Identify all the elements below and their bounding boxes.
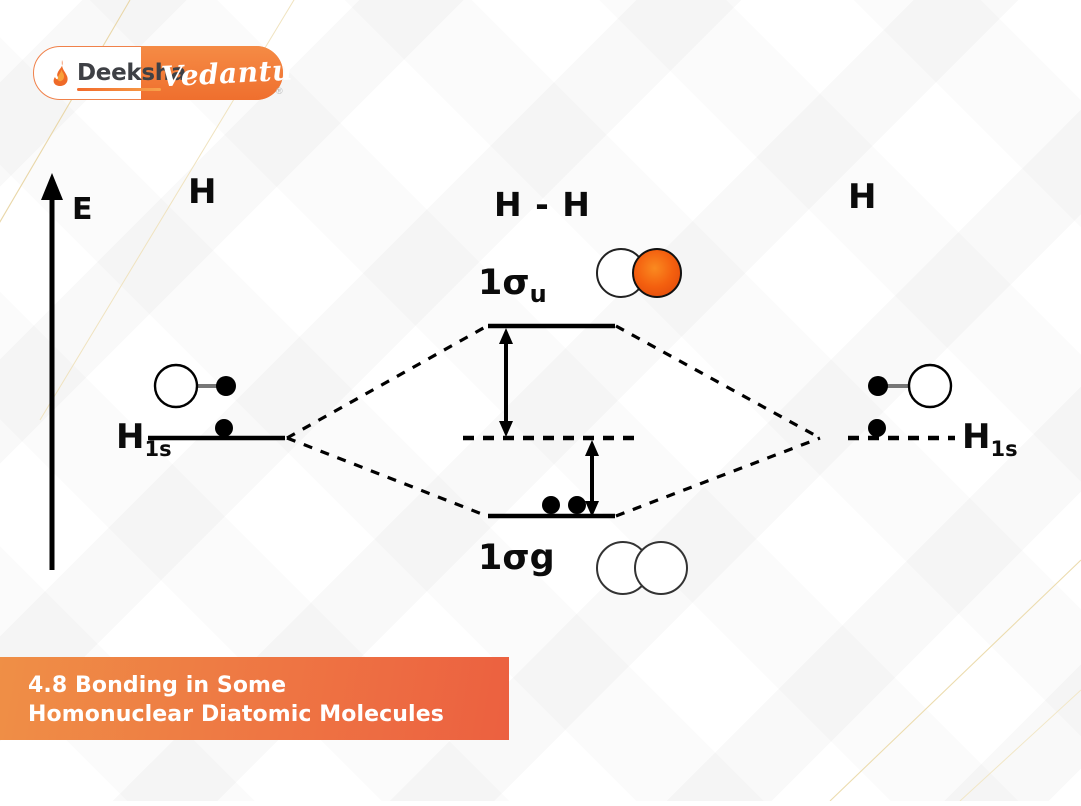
level-label-sigma-u-text: 1σ [478,263,530,303]
electron-dot [568,496,586,514]
atom-symbol-left [155,365,236,407]
level-label-sigma-g: 1σg [478,538,555,578]
level-label-sigma-u-sub: u [530,280,547,308]
level-label-h1s-right-text: H [962,417,990,457]
correlation-lines-right [616,326,820,516]
atom-symbol-right [868,365,951,407]
energy-axis [41,173,63,570]
orbital-lobe-white [635,542,687,594]
electron-dot [542,496,560,514]
level-label-h1s-right-sub: 1s [990,437,1017,461]
logo-underline [77,88,161,91]
logo-vedantu-text: Vedantu [160,54,293,94]
brand-logo[interactable]: Deeksha Vedantu ® [33,46,283,100]
caption-line-1: 4.8 Bonding in Some [28,671,509,700]
level-label-h1s-left-text: H [116,417,144,457]
atom-label-left: H [188,172,216,212]
antibonding-orbital-sketch [597,249,681,297]
bonding-orbital-sketch [597,542,687,594]
atom-label-right: H [848,177,876,217]
flame-icon [51,60,71,92]
level-label-h1s-left-sub: 1s [144,437,171,461]
energy-axis-label: E [72,192,93,227]
registered-trademark-icon: ® [276,86,283,96]
level-label-h1s-right: H1s [962,417,1018,461]
caption-banner: 4.8 Bonding in Some Homonuclear Diatomic… [0,657,509,740]
electron-dot [868,419,886,437]
level-label-h1s-left: H1s [116,417,172,461]
caption-line-2: Homonuclear Diatomic Molecules [28,700,509,729]
molecule-label: H - H [494,185,591,224]
arrow-bonding-splitting [585,440,599,517]
orbital-lobe-orange [633,249,681,297]
correlation-lines-left [287,326,487,516]
level-label-sigma-u: 1σu [478,263,547,308]
arrow-antibonding-splitting [499,328,513,437]
electron-dot [215,419,233,437]
